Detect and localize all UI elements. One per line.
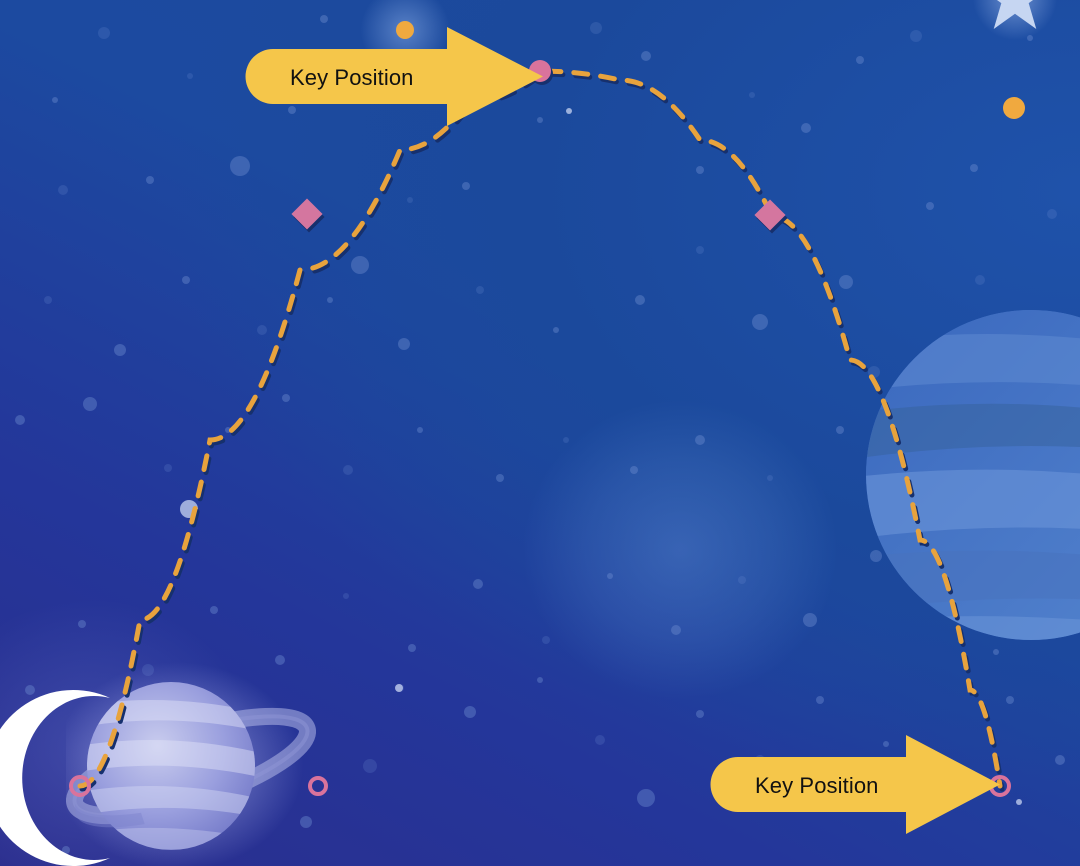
- key-position-top-label: Key Position: [290, 65, 414, 91]
- marker-diamond: [754, 199, 785, 230]
- key-position-bottom[interactable]: Key Position: [710, 733, 1002, 836]
- trajectory-markers: [71, 60, 1009, 795]
- trajectory-path-shadow: [82, 74, 1002, 789]
- key-position-top[interactable]: Key Position: [245, 25, 545, 128]
- key-position-bottom-label: Key Position: [755, 773, 879, 799]
- ground-marker[interactable]: [310, 778, 326, 794]
- diamond-left[interactable]: [291, 198, 324, 232]
- trajectory-path: [80, 71, 1000, 786]
- trajectory-path-group: [80, 71, 1002, 789]
- marker-ring: [310, 778, 326, 794]
- space-scene: Key Position Key Position: [0, 0, 1080, 866]
- marker-diamond: [291, 198, 322, 229]
- diamond-right[interactable]: [754, 199, 787, 233]
